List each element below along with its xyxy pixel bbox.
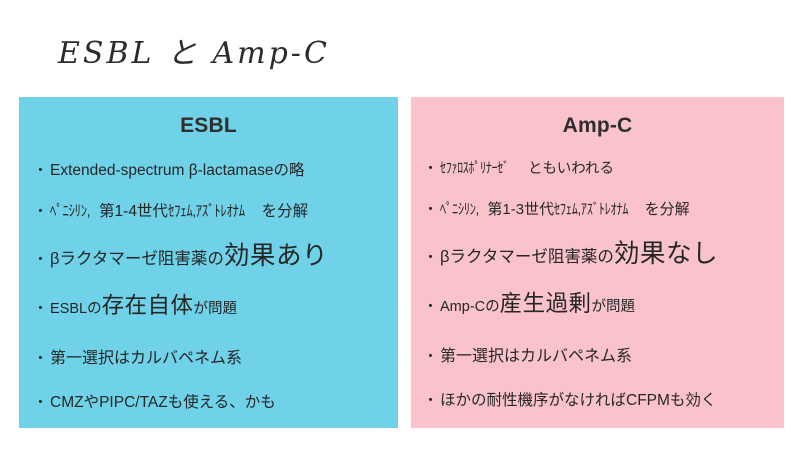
- bullet-text-segment: βラクタマーゼ阻害薬の: [440, 248, 614, 266]
- bullet-text-segment: を分解: [262, 203, 309, 220]
- bullet-text: ｾﾌｧﾛｽﾎﾟﾘﾅｰｾﾞ ともいわれる: [440, 157, 614, 178]
- bullet-item: ・ｾﾌｧﾛｽﾎﾟﾘﾅｰｾﾞ ともいわれる: [411, 157, 784, 178]
- bullet-item: ・βラクタマーゼ阻害薬の効果あり: [19, 244, 398, 270]
- bullet-item: ・βラクタマーゼ阻害薬の効果なし: [411, 242, 784, 268]
- bullet-marker-icon: ・: [33, 252, 48, 267]
- bullet-text-segment: 第一選択はカルバペネム系: [50, 350, 242, 367]
- bullet-text-segment: ｾﾌｧﾛｽﾎﾟﾘﾅｰｾﾞ: [440, 157, 509, 178]
- bullet-text-segment: ともいわれる: [524, 161, 614, 177]
- bullet-text: ほかの耐性機序がなければCFPMも効く: [440, 388, 716, 410]
- bullet-marker-icon: ・: [33, 204, 48, 219]
- bullet-text-emphasis: 産生過剰: [500, 291, 592, 316]
- bullet-list-ampc: ・ｾﾌｧﾛｽﾎﾟﾘﾅｰｾﾞ ともいわれる・ﾍﾟﾆｼﾘﾝ,第1-3世代ｾﾌｪﾑ,ｱ…: [411, 157, 784, 410]
- bullet-text-segment: 第1-3世代: [487, 201, 554, 218]
- bullet-marker-icon: ・: [33, 395, 48, 410]
- bullet-text-segment: を分解: [645, 201, 690, 218]
- bullet-text: Amp-Cの産生過剰が問題: [440, 293, 635, 316]
- bullet-marker-icon: ・: [423, 299, 438, 314]
- bullet-text-segment: Amp-Cの: [440, 299, 500, 315]
- bullet-text-segment: βラクタマーゼ阻害薬の: [50, 250, 224, 268]
- bullet-item: ・ﾍﾟﾆｼﾘﾝ,第1-3世代ｾﾌｪﾑ,ｱｽﾞﾄﾚｵﾅﾑを分解: [411, 198, 784, 219]
- bullet-text: 第一選択はカルバペネム系: [50, 344, 242, 368]
- bullet-text-segment: ｾﾌｪﾑ,ｱｽﾞﾄﾚｵﾅﾑ: [168, 199, 245, 221]
- bullet-marker-icon: ・: [423, 349, 438, 364]
- bullet-text-segment: Extended-spectrum β-lactamaseの略: [50, 162, 304, 179]
- bullet-text-segment: が問題: [592, 299, 636, 315]
- bullet-text: βラクタマーゼ阻害薬の効果なし: [440, 242, 718, 268]
- bullet-text-segment: ﾍﾟﾆｼﾘﾝ,: [440, 198, 479, 219]
- bullet-text: βラクタマーゼ阻害薬の効果あり: [50, 244, 328, 270]
- bullet-item: ・第一選択はカルバペネム系: [411, 342, 784, 366]
- bullet-marker-icon: ・: [423, 250, 438, 265]
- bullet-marker-icon: ・: [33, 163, 48, 178]
- bullet-marker-icon: ・: [33, 351, 48, 366]
- bullet-text-segment: 第一選択はカルバペネム系: [440, 348, 632, 365]
- panel-esbl: ESBL ・Extended-spectrum β-lactamaseの略・ﾍﾟ…: [19, 97, 398, 428]
- bullet-text: CMZやPIPC/TAZも使える、かも: [50, 390, 276, 412]
- bullet-list-esbl: ・Extended-spectrum β-lactamaseの略・ﾍﾟﾆｼﾘﾝ,…: [19, 158, 398, 412]
- bullet-item: ・Extended-spectrum β-lactamaseの略: [19, 158, 398, 180]
- bullet-marker-icon: ・: [423, 393, 438, 408]
- bullet-text: ﾍﾟﾆｼﾘﾝ,第1-4世代ｾﾌｪﾑ,ｱｽﾞﾄﾚｵﾅﾑを分解: [50, 199, 308, 221]
- bullet-marker-icon: ・: [423, 161, 438, 176]
- bullet-item: ・ﾍﾟﾆｼﾘﾝ,第1-4世代ｾﾌｪﾑ,ｱｽﾞﾄﾚｵﾅﾑを分解: [19, 199, 398, 221]
- bullet-text-segment: 第1-4世代: [99, 203, 168, 220]
- bullet-marker-icon: ・: [33, 301, 48, 316]
- bullet-text-emphasis: 効果あり: [224, 242, 328, 270]
- bullet-text-emphasis: 存在自体: [102, 293, 194, 318]
- bullet-text-segment: ほかの耐性機序がなければCFPMも効く: [440, 392, 716, 409]
- bullet-item: ・Amp-Cの産生過剰が問題: [411, 293, 784, 316]
- bullet-item: ・第一選択はカルバペネム系: [19, 344, 398, 368]
- bullet-text-segment: ESBLの: [50, 301, 102, 317]
- bullet-item: ・ほかの耐性機序がなければCFPMも効く: [411, 388, 784, 410]
- bullet-item: ・ESBLの存在自体が問題: [19, 295, 398, 318]
- panel-heading-esbl: ESBL: [19, 113, 398, 138]
- bullet-text: Extended-spectrum β-lactamaseの略: [50, 158, 304, 180]
- bullet-text-segment: ﾍﾟﾆｼﾘﾝ,: [50, 199, 90, 221]
- panel-heading-ampc: Amp-C: [411, 113, 784, 138]
- page-title: ESBL と Amp-C: [58, 28, 330, 72]
- bullet-item: ・CMZやPIPC/TAZも使える、かも: [19, 390, 398, 412]
- panel-ampc: Amp-C ・ｾﾌｧﾛｽﾎﾟﾘﾅｰｾﾞ ともいわれる・ﾍﾟﾆｼﾘﾝ,第1-3世代…: [411, 97, 784, 428]
- bullet-text-segment: が問題: [194, 301, 238, 317]
- bullet-text-segment: CMZやPIPC/TAZも使える、かも: [50, 394, 276, 411]
- bullet-marker-icon: ・: [423, 202, 438, 217]
- bullet-text: ﾍﾟﾆｼﾘﾝ,第1-3世代ｾﾌｪﾑ,ｱｽﾞﾄﾚｵﾅﾑを分解: [440, 198, 690, 219]
- bullet-text: ESBLの存在自体が問題: [50, 295, 237, 318]
- bullet-text-segment: ｾﾌｪﾑ,ｱｽﾞﾄﾚｵﾅﾑ: [554, 198, 628, 219]
- bullet-text-emphasis: 効果なし: [614, 240, 718, 268]
- bullet-text: 第一選択はカルバペネム系: [440, 342, 632, 366]
